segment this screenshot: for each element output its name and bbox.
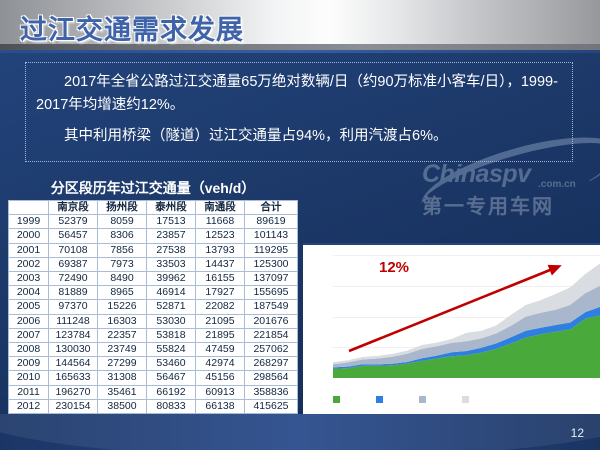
table-col-header: 扬州段 <box>98 201 147 215</box>
table-cell-value: 123784 <box>49 328 98 342</box>
chart-panel: 12% <box>303 243 600 420</box>
slide-canvas: 过江交通需求发展 Chinaspv .com.cn 第一专用车网 2017年全省… <box>0 0 600 450</box>
table-header-row: 南京段 扬州段 泰州段 南通段 合计 <box>9 201 298 215</box>
table-cell-value: 55824 <box>147 343 196 357</box>
table-cell-value: 125300 <box>245 257 298 271</box>
table-cell-value: 21095 <box>196 314 245 328</box>
table-cell-value: 298564 <box>245 371 298 385</box>
table-cell-value: 415625 <box>245 399 298 413</box>
table-cell-value: 144564 <box>49 357 98 371</box>
watermark-chinese: 第一专用车网 <box>422 190 554 219</box>
legend-swatch <box>333 396 340 403</box>
table-cell-value: 8965 <box>98 286 147 300</box>
table-col-header: 合计 <box>245 201 298 215</box>
table-cell-value: 52871 <box>147 300 196 314</box>
table-cell-value: 33503 <box>147 257 196 271</box>
table-cell-value: 155695 <box>245 286 298 300</box>
page-title: 过江交通需求发展 <box>20 8 244 47</box>
watermark-tld: .com.cn <box>538 179 576 190</box>
table-cell-value: 11668 <box>196 215 245 229</box>
legend-swatch <box>376 396 383 403</box>
table-col-header: 泰州段 <box>147 201 196 215</box>
callout-paragraph-2: 其中利用桥梁（隧道）过江交通量占94%，利用汽渡占6%。 <box>36 125 562 148</box>
table-row: 2009144564272995346042974268297 <box>9 357 298 371</box>
table-cell-year: 2011 <box>9 385 49 399</box>
table-cell-year: 2009 <box>9 357 49 371</box>
table-corner-cell <box>9 201 49 215</box>
table-cell-value: 72490 <box>49 272 98 286</box>
table-cell-value: 130030 <box>49 343 98 357</box>
table-title: 分区段历年过江交通量（veh/d） <box>8 178 298 198</box>
table-cell-value: 268297 <box>245 357 298 371</box>
table-cell-value: 52379 <box>49 215 98 229</box>
title-accent-line <box>0 50 600 53</box>
growth-arrow-icon <box>333 255 600 378</box>
table-cell-value: 27538 <box>147 243 196 257</box>
table-col-header: 南京段 <box>49 201 98 215</box>
legend-swatch <box>419 396 426 403</box>
table-cell-value: 22082 <box>196 300 245 314</box>
table-cell-value: 8059 <box>98 215 147 229</box>
table-cell-value: 111248 <box>49 314 98 328</box>
table-cell-year: 2004 <box>9 286 49 300</box>
table-cell-value: 56457 <box>49 229 98 243</box>
table-cell-value: 165633 <box>49 371 98 385</box>
table-cell-value: 60913 <box>196 385 245 399</box>
table-cell-value: 17513 <box>147 215 196 229</box>
table-cell-year: 1999 <box>9 215 49 229</box>
table-cell-value: 14437 <box>196 257 245 271</box>
table-cell-value: 21895 <box>196 328 245 342</box>
table-cell-value: 8490 <box>98 272 147 286</box>
footer-sweep-decoration <box>0 414 600 450</box>
traffic-data-table: 南京段 扬州段 泰州段 南通段 合计 199952379805917513116… <box>8 200 298 450</box>
page-number: 12 <box>571 426 584 440</box>
table-row: 2011196270354616619260913358836 <box>9 385 298 399</box>
table-cell-value: 257062 <box>245 343 298 357</box>
table-cell-value: 66138 <box>196 399 245 413</box>
table-cell-value: 35461 <box>98 385 147 399</box>
table-cell-value: 119295 <box>245 243 298 257</box>
table-cell-year: 2005 <box>9 300 49 314</box>
table-cell-value: 15226 <box>98 300 147 314</box>
table-cell-value: 8306 <box>98 229 147 243</box>
table-cell-year: 2007 <box>9 328 49 342</box>
table-row: 2006111248163035303021095201676 <box>9 314 298 328</box>
table-cell-year: 2000 <box>9 229 49 243</box>
table-row: 20005645783062385712523101143 <box>9 229 298 243</box>
watermark: Chinaspv .com.cn 第一专用车网 <box>408 152 600 220</box>
table-cell-value: 101143 <box>245 229 298 243</box>
table-cell-value: 45156 <box>196 371 245 385</box>
table-cell-value: 80833 <box>147 399 196 413</box>
table-cell-value: 137097 <box>245 272 298 286</box>
table-cell-value: 230154 <box>49 399 98 413</box>
chart-legend <box>333 393 563 407</box>
table-cell-year: 2006 <box>9 314 49 328</box>
table-cell-year: 2008 <box>9 343 49 357</box>
stacked-area-plot <box>333 255 600 378</box>
table-cell-value: 89619 <box>245 215 298 229</box>
table-cell-value: 23857 <box>147 229 196 243</box>
table-cell-value: 7856 <box>98 243 147 257</box>
table-cell-value: 53818 <box>147 328 196 342</box>
table-row: 1999523798059175131166889619 <box>9 215 298 229</box>
legend-swatch <box>462 396 469 403</box>
table-cell-value: 97370 <box>49 300 98 314</box>
table-cell-year: 2012 <box>9 399 49 413</box>
table-cell-value: 39962 <box>147 272 196 286</box>
table-row: 20048188989654691417927155695 <box>9 286 298 300</box>
table-cell-value: 66192 <box>147 385 196 399</box>
table-cell-value: 358836 <box>245 385 298 399</box>
table-row: 2008130030237495582447459257062 <box>9 343 298 357</box>
table-cell-value: 22357 <box>98 328 147 342</box>
table-cell-value: 187549 <box>245 300 298 314</box>
table-row: 20037249084903996216155137097 <box>9 272 298 286</box>
table-cell-value: 201676 <box>245 314 298 328</box>
table-cell-value: 16303 <box>98 314 147 328</box>
table-cell-value: 70108 <box>49 243 98 257</box>
table-cell-value: 17927 <box>196 286 245 300</box>
table-cell-value: 46914 <box>147 286 196 300</box>
table-cell-value: 31308 <box>98 371 147 385</box>
table-cell-value: 69387 <box>49 257 98 271</box>
table-cell-value: 7973 <box>98 257 147 271</box>
table-cell-value: 23749 <box>98 343 147 357</box>
watermark-brand: Chinaspv <box>422 160 531 189</box>
table-row: 2007123784223575381821895221854 <box>9 328 298 342</box>
table-cell-value: 53030 <box>147 314 196 328</box>
callout-textbox: 2017年全省公路过江交通量65万绝对数辆/日（约90万标准小客车/日），199… <box>25 62 573 162</box>
table-row: 20017010878562753813793119295 <box>9 243 298 257</box>
table-cell-value: 81889 <box>49 286 98 300</box>
table-cell-year: 2003 <box>9 272 49 286</box>
table-cell-value: 47459 <box>196 343 245 357</box>
table-cell-year: 2002 <box>9 257 49 271</box>
table-cell-value: 27299 <box>98 357 147 371</box>
growth-rate-label: 12% <box>379 259 409 276</box>
table-cell-value: 56467 <box>147 371 196 385</box>
callout-paragraph-1: 2017年全省公路过江交通量65万绝对数辆/日（约90万标准小客车/日），199… <box>36 71 562 117</box>
table-cell-year: 2010 <box>9 371 49 385</box>
table-row: 2012230154385008083366138415625 <box>9 399 298 413</box>
table-cell-value: 42974 <box>196 357 245 371</box>
table-cell-value: 16155 <box>196 272 245 286</box>
table-cell-year: 2001 <box>9 243 49 257</box>
table-cell-value: 13793 <box>196 243 245 257</box>
table-row: 200597370152265287122082187549 <box>9 300 298 314</box>
footer-bar <box>0 414 600 450</box>
table-col-header: 南通段 <box>196 201 245 215</box>
table-cell-value: 196270 <box>49 385 98 399</box>
table-row: 20026938779733350314437125300 <box>9 257 298 271</box>
table-row: 2010165633313085646745156298564 <box>9 371 298 385</box>
table-cell-value: 53460 <box>147 357 196 371</box>
table-cell-value: 38500 <box>98 399 147 413</box>
table-cell-value: 221854 <box>245 328 298 342</box>
table-cell-value: 12523 <box>196 229 245 243</box>
